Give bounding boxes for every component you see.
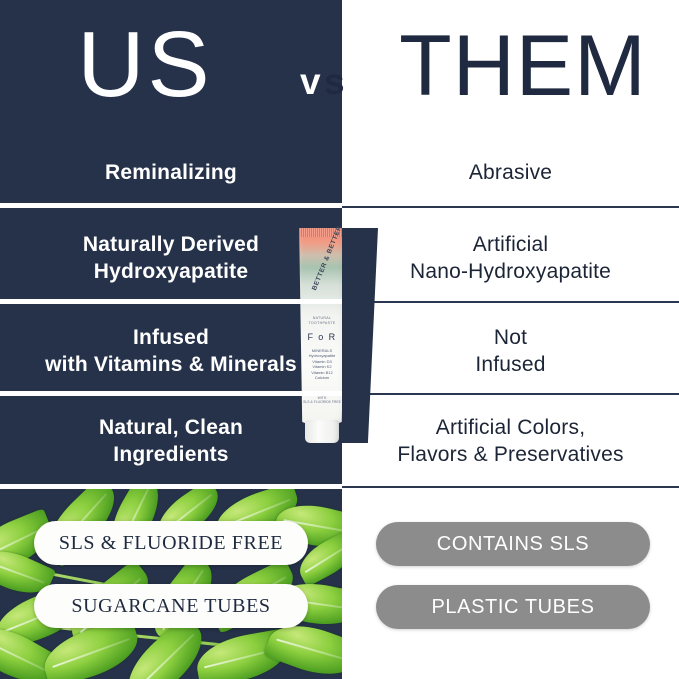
us-cell-3-line2: with Vitamins & Minerals: [45, 351, 297, 378]
us-cell-1: Reminalizing: [0, 140, 342, 204]
us-badge-sls-fluoride-free[interactable]: SLS & FLUORIDE FREE: [34, 521, 308, 565]
tube-footer-label: WITH SLS & FLUORIDE FREE: [300, 396, 344, 405]
us-cell-4-line1: Natural, Clean: [99, 414, 243, 441]
them-cell-4: Artificial Colors, Flavors & Preservativ…: [342, 400, 679, 482]
them-cell-3-line1: Not: [494, 324, 527, 351]
vs-label: v s: [300, 58, 360, 106]
tube-ingredients-label: MINERALS Hydroxyapatite Vitamin D3 Vitam…: [300, 348, 344, 380]
divider-right-1: [342, 206, 679, 208]
divider-right-2: [342, 301, 679, 303]
vs-label-v: v: [300, 58, 321, 106]
divider-left-3: [0, 391, 342, 396]
them-cell-3: Not Infused: [342, 312, 679, 390]
them-badge-contains-sls[interactable]: CONTAINS SLS: [376, 522, 650, 566]
tube-subtitle-label: NATURAL TOOTHPASTE: [300, 316, 344, 325]
them-badge-2-label: PLASTIC TUBES: [431, 596, 594, 619]
page-title-them: THEM: [372, 16, 674, 116]
them-badge-plastic-tubes[interactable]: PLASTIC TUBES: [376, 585, 650, 629]
us-badge-1-label: SLS & FLUORIDE FREE: [59, 532, 283, 555]
divider-left-2: [0, 299, 342, 304]
us-vs-them-comparison-infographic: US v s THEM Reminalizing Abrasive Natura…: [0, 0, 679, 679]
them-cell-4-line2: Flavors & Preservatives: [397, 441, 623, 468]
us-cell-2: Naturally Derived Hydroxyapatite: [0, 220, 342, 296]
us-cell-2-line2: Hydroxyapatite: [94, 258, 249, 285]
them-cell-1: Abrasive: [342, 140, 679, 204]
us-cell-4-line2: Ingredients: [113, 441, 228, 468]
divider-right-3: [342, 393, 679, 395]
them-cell-3-line2: Infused: [475, 351, 545, 378]
vs-label-s: s: [324, 58, 345, 106]
us-cell-4: Natural, Clean Ingredients: [0, 400, 342, 482]
tube-for-label: F o R: [300, 332, 344, 342]
us-badge-2-label: SUGARCANE TUBES: [71, 595, 270, 618]
us-cell-3-line1: Infused: [133, 324, 209, 351]
divider-right-4: [342, 486, 679, 488]
us-cell-3: Infused with Vitamins & Minerals: [0, 312, 342, 390]
us-cell-1-line1: Reminalizing: [105, 159, 237, 186]
divider-left-4: [0, 484, 342, 489]
us-badge-sugarcane-tubes[interactable]: SUGARCANE TUBES: [34, 584, 308, 628]
them-cell-1-line1: Abrasive: [469, 159, 552, 186]
tube-cap: [305, 420, 339, 443]
them-cell-4-line1: Artificial Colors,: [436, 414, 585, 441]
them-badge-1-label: CONTAINS SLS: [437, 533, 589, 556]
them-cell-2-line2: Nano-Hydroxyapatite: [410, 258, 611, 285]
page-title-us: US: [0, 14, 290, 114]
them-cell-2: Artificial Nano-Hydroxyapatite: [342, 220, 679, 296]
them-cell-2-line1: Artificial: [473, 231, 549, 258]
product-toothpaste-tube: BETTER & BETTER NATURAL TOOTHPASTE F o R…: [296, 228, 348, 443]
divider-left-1: [0, 203, 342, 208]
us-cell-2-line1: Naturally Derived: [83, 231, 259, 258]
